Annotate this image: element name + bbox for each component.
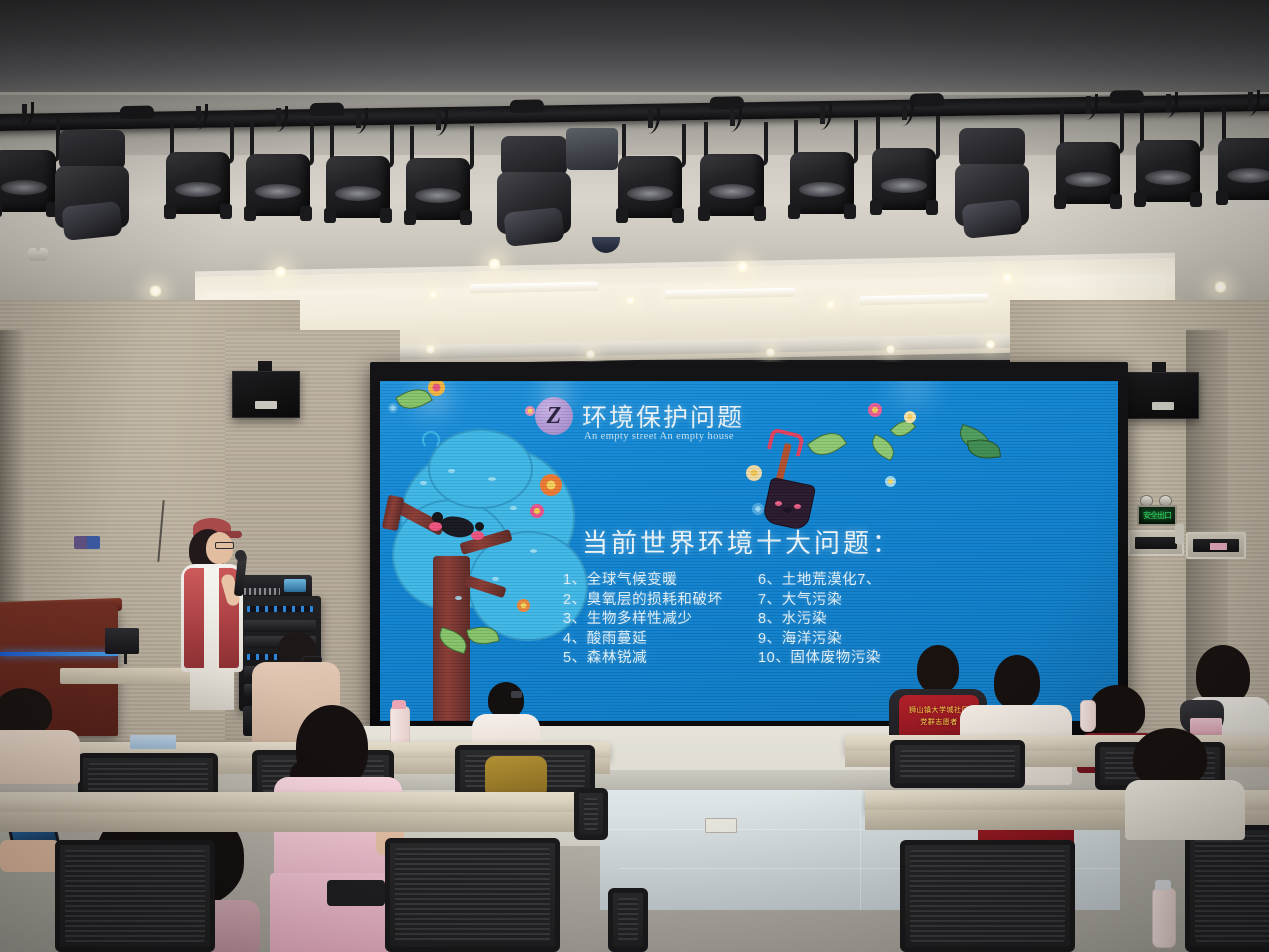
chair (574, 788, 608, 840)
ceiling-haze-machine (566, 128, 618, 170)
hair (994, 655, 1040, 709)
speaker-badge (255, 401, 277, 409)
lamp-body (0, 150, 56, 212)
flower-decoration (530, 504, 544, 518)
canopy-speck (420, 481, 427, 485)
flower-decoration (388, 403, 398, 413)
lamp-knob (698, 206, 710, 221)
flower-decoration (525, 406, 535, 416)
hair (1196, 645, 1250, 705)
ceiling-downlight (735, 261, 750, 273)
lamp-knob (870, 200, 882, 215)
lamp-lens (627, 186, 673, 201)
lamp-knob (672, 208, 684, 223)
canopy-speck (455, 596, 462, 600)
moving-head-base (959, 128, 1025, 168)
lamp-knob (844, 204, 856, 219)
chair-mesh (584, 798, 598, 830)
lamp-knob (380, 208, 392, 223)
chair-back (890, 740, 1025, 788)
chair-back (608, 888, 648, 952)
chair (385, 838, 560, 952)
chair-back (1185, 825, 1269, 952)
flower-decoration (517, 599, 530, 612)
mixer-display (284, 579, 306, 592)
lamp-lens (415, 188, 461, 203)
podium-desk-surface (60, 668, 190, 684)
lamp-body (1136, 140, 1200, 202)
lamp-knob (1054, 194, 1066, 209)
lamp-body (618, 156, 682, 218)
flower-decoration (868, 403, 882, 417)
slide-heading: 当前世界环境十大问题： (582, 523, 901, 560)
list-item: 7、大气污染 (758, 591, 881, 611)
canopy-curl (422, 431, 440, 449)
truss-clamp (910, 93, 944, 107)
speaker-badge (1152, 402, 1174, 410)
ceiling-downlight (428, 290, 439, 299)
flower-decoration (752, 503, 764, 515)
leaf-decoration (807, 425, 847, 462)
list-item: 4、酸雨蔓延 (563, 630, 723, 650)
lamp-lens (709, 184, 755, 199)
panel-face (1135, 537, 1177, 549)
lamp-lens (799, 182, 845, 197)
tree-eye-right (475, 522, 484, 531)
lamp-knob (1134, 192, 1146, 207)
ceiling-downlight (625, 296, 636, 305)
wall-control-panel-right (1186, 532, 1246, 559)
leaf-decoration (868, 434, 899, 461)
truss-clamp (310, 103, 344, 117)
flower-decoration (904, 411, 916, 423)
shovel-eye-left (775, 501, 782, 506)
book-on-desk (130, 735, 176, 749)
lamp-knob (1190, 192, 1202, 207)
slide-list-left: 1、全球气候变暖 2、臭氧层的损耗和破坏 3、生物多样性减少 4、酸雨蔓延 5、… (563, 571, 723, 669)
lamp-lens (1145, 170, 1191, 185)
lamp-knob (1110, 194, 1122, 209)
lamp-lens (1227, 168, 1269, 183)
flower-decoration (746, 465, 762, 481)
ceiling-upper-dark-band (0, 0, 1269, 92)
list-item: 5、森林锐减 (563, 649, 723, 669)
chair-mesh (65, 850, 205, 942)
lamp-body (1218, 138, 1269, 200)
water-bottle (1080, 700, 1096, 732)
exit-sign-label: 安全出口 (1143, 510, 1171, 521)
slide-subtitle: An empty street An empty house (584, 431, 734, 442)
slide-list-right: 6、土地荒漠化7、 7、大气污染 8、水污染 9、海洋污染 10、固体废物污染 (758, 571, 881, 669)
audience-member-child (1125, 728, 1245, 840)
chair-mesh (618, 898, 638, 942)
shirt (0, 730, 80, 784)
lamp-body (246, 154, 310, 216)
lamp-knob (754, 206, 766, 221)
list-item: 10、固体废物污染 (758, 649, 881, 669)
chair-back (900, 840, 1075, 952)
wall-speaker-right (1127, 372, 1199, 419)
ceiling-downlight (1213, 281, 1228, 293)
chair-mesh (88, 763, 208, 793)
presenter-legs (190, 668, 234, 710)
moving-head-base (501, 136, 567, 176)
chair-mesh (900, 750, 1015, 778)
lamp-knob (324, 208, 336, 223)
slide-logo-icon: Z (535, 397, 573, 435)
chair (608, 888, 648, 952)
hair (917, 645, 959, 693)
moving-head-lens (961, 199, 1022, 239)
desk-row-front-left (0, 792, 590, 814)
rack-unit (244, 620, 316, 632)
wall-speaker-left (232, 371, 300, 418)
lamp-knob (616, 208, 628, 223)
ceiling-downlight (425, 345, 436, 354)
chair-mesh (395, 848, 550, 942)
tree-cheek-right (471, 531, 484, 540)
auditorium-photo: 安全出口 (0, 0, 1269, 952)
presenter-mic-head (235, 550, 246, 561)
list-item: 8、水污染 (758, 610, 881, 630)
canopy-speck (488, 477, 496, 481)
moving-head-lens (61, 201, 122, 241)
arm (0, 840, 60, 872)
lamp-knob (788, 204, 800, 219)
lamp-lens (1, 180, 47, 195)
truss-clamp (120, 106, 154, 120)
lamp-knob (0, 202, 2, 217)
lamp-lens (881, 178, 927, 193)
chair (55, 840, 215, 952)
ceiling-downlight (885, 345, 896, 354)
lamp-lens (335, 186, 381, 201)
chair-back (574, 788, 608, 840)
tree-cheek-left (429, 522, 442, 531)
hair (0, 688, 52, 736)
lamp-body (790, 152, 854, 214)
tree-canopy (428, 429, 533, 509)
floor-seam (860, 790, 861, 910)
lamp-body (872, 148, 936, 210)
podium-led-strip (0, 652, 118, 656)
bottle-cap (1155, 880, 1171, 890)
flower-decoration (540, 474, 562, 496)
lamp-knob (1216, 190, 1228, 205)
lamp-knob (926, 200, 938, 215)
hair (488, 682, 524, 718)
lamp-lens (1065, 172, 1111, 187)
ceiling-downlight (585, 350, 596, 359)
ceiling-downlight (1000, 272, 1015, 284)
lamp-body (166, 152, 230, 214)
desk-front-panel (0, 812, 590, 832)
list-item: 1、全球气候变暖 (563, 571, 723, 591)
water-bottle (1152, 888, 1176, 948)
canopy-speck (510, 506, 517, 510)
lamp-lens (175, 182, 221, 197)
ceiling-downlight (825, 300, 836, 309)
ceiling-downlight (985, 340, 996, 349)
presenter (176, 518, 248, 708)
chair-arm (327, 880, 385, 906)
slide-title: 环境保护问题 (582, 398, 744, 434)
list-item: 9、海洋污染 (758, 630, 881, 650)
leaf-decoration (967, 437, 1001, 460)
mixer-faders (244, 588, 280, 595)
security-camera-arm (36, 243, 40, 251)
exit-sign: 安全出口 (1137, 505, 1177, 526)
canopy-speck (448, 469, 455, 473)
flower-decoration (885, 476, 896, 487)
chair (890, 740, 1025, 788)
moving-head-lens (503, 207, 564, 247)
canopy-speck (530, 549, 537, 553)
presenter-glasses (215, 542, 234, 549)
chair (1185, 825, 1269, 952)
lamp-knob (164, 204, 176, 219)
audience-member (0, 688, 80, 784)
lamp-knob (460, 210, 472, 225)
lamp-knob (404, 210, 416, 225)
panel-label-sticker (1210, 543, 1227, 550)
chair (900, 840, 1075, 952)
list-item: 2、臭氧层的损耗和破坏 (563, 591, 723, 611)
lamp-body (326, 156, 390, 218)
chair-mesh (1195, 835, 1269, 942)
laptop-on-podium (105, 628, 139, 654)
ceiling-downlight (148, 285, 163, 297)
chair-back (385, 838, 560, 952)
lamp-knob (244, 206, 256, 221)
ceiling-downlight (273, 266, 288, 278)
chair-mesh (910, 850, 1065, 942)
truss-clamp (510, 99, 544, 113)
ceiling-downlight (487, 258, 502, 270)
hair-clip (511, 691, 522, 698)
wall-notice-sign (74, 536, 100, 549)
presenter-vest-opening (204, 568, 219, 668)
shovel-eye-right (794, 504, 801, 509)
chair-back (55, 840, 215, 952)
lamp-body (700, 154, 764, 216)
lamp-knob (220, 204, 232, 219)
lamp-body (406, 158, 470, 220)
list-item: 6、土地荒漠化7、 (758, 571, 881, 591)
lamp-lens (255, 184, 301, 199)
canopy-speck (492, 577, 499, 581)
list-item: 3、生物多样性减少 (563, 610, 723, 630)
moving-head-base (59, 130, 125, 170)
lamp-knob (300, 206, 312, 221)
lamp-body (1056, 142, 1120, 204)
ceiling-downlight (765, 348, 776, 357)
hair (1133, 728, 1207, 788)
panel-conduit (1175, 524, 1184, 544)
floor-power-outlet (705, 818, 737, 833)
truss-clamp (1110, 90, 1144, 104)
rack-led-row (247, 606, 313, 612)
shirt (1125, 780, 1245, 840)
